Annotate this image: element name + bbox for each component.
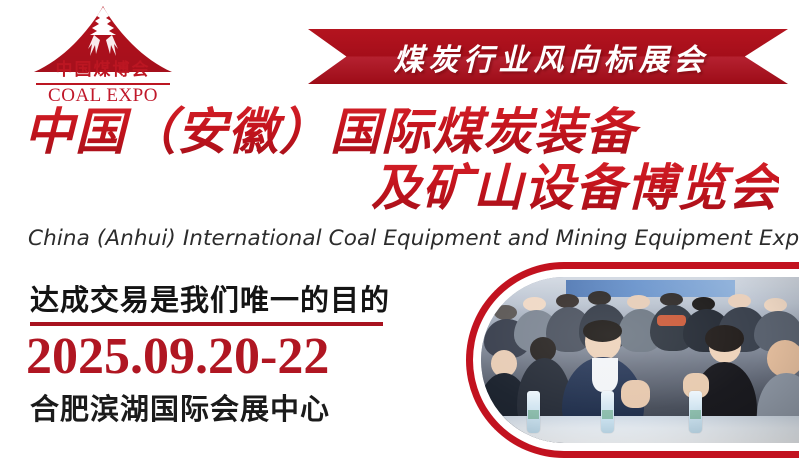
photo-water-bottle bbox=[689, 391, 702, 433]
logo-chinese-name: 中国煤博会 bbox=[28, 62, 178, 79]
coal-expo-logo: 中国煤博会 COAL EXPO bbox=[28, 4, 178, 108]
photo-foreground-person-hair bbox=[583, 320, 622, 342]
english-subtitle: China (Anhui) International Coal Equipme… bbox=[28, 226, 780, 251]
photo-foreground-person-shirt bbox=[592, 358, 618, 391]
event-venue: 合肥滨湖国际会展中心 bbox=[30, 386, 330, 428]
expo-poster: 中国煤博会 COAL EXPO 煤炭行业风向标展会 中国（安徽）国际煤炭装备 及… bbox=[0, 0, 799, 464]
photo-crowd-back bbox=[481, 287, 799, 357]
photo-person-hair bbox=[705, 325, 744, 352]
photo-person-head bbox=[767, 340, 799, 377]
ribbon-tagline-text: 煤炭行业风向标展会 bbox=[308, 29, 788, 84]
page-title: 中国（安徽）国际煤炭装备 及矿山设备博览会 bbox=[24, 104, 779, 216]
event-photo-frame bbox=[466, 262, 799, 458]
event-photo bbox=[481, 277, 799, 443]
info-divider bbox=[30, 322, 383, 326]
slogan-text: 达成交易是我们唯一的目的 bbox=[30, 277, 390, 319]
title-line-2: 及矿山设备博览会 bbox=[24, 160, 779, 216]
photo-water-bottle bbox=[601, 391, 614, 433]
event-dates: 2025.09.20-22 bbox=[26, 328, 329, 385]
photo-water-bottle bbox=[527, 391, 540, 433]
title-line-1: 中国（安徽）国际煤炭装备 bbox=[24, 104, 779, 160]
photo-hands-clapping bbox=[621, 380, 650, 408]
